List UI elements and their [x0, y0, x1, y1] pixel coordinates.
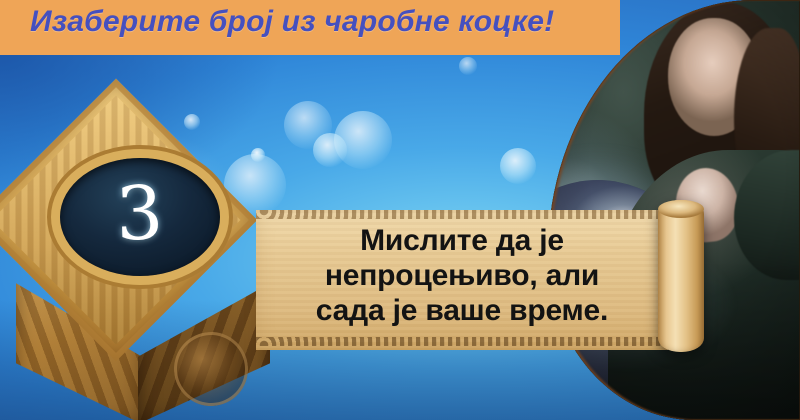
- scroll-message-line-2: непроцењиво, али: [268, 259, 656, 294]
- banner-canvas: 3 Изаберите број из чаробне коцке! Мисли…: [0, 0, 800, 420]
- scroll-message-line-1: Мислите да је: [268, 224, 656, 259]
- scroll-message-line-3: сада је ваше време.: [268, 294, 656, 329]
- scroll-torn-top-edge: [256, 210, 668, 219]
- scroll-rolled-end: [658, 200, 704, 352]
- header-band: Изаберите број из чаробне коцке!: [0, 0, 620, 55]
- scroll-sheet: Мислите да је непроцењиво, али сада је в…: [256, 210, 668, 350]
- page-title: Изаберите број из чаробне коцке!: [30, 5, 554, 39]
- cube-number-dial[interactable]: 3: [60, 158, 220, 276]
- scroll: Мислите да је непроцењиво, али сада је в…: [256, 206, 704, 354]
- magic-cube[interactable]: 3: [8, 120, 270, 418]
- cube-number-value: 3: [115, 176, 165, 252]
- scroll-torn-bottom-edge: [256, 337, 668, 346]
- scroll-message: Мислите да је непроцењиво, али сада је в…: [268, 224, 656, 328]
- scroll-roll-cap: [658, 200, 704, 218]
